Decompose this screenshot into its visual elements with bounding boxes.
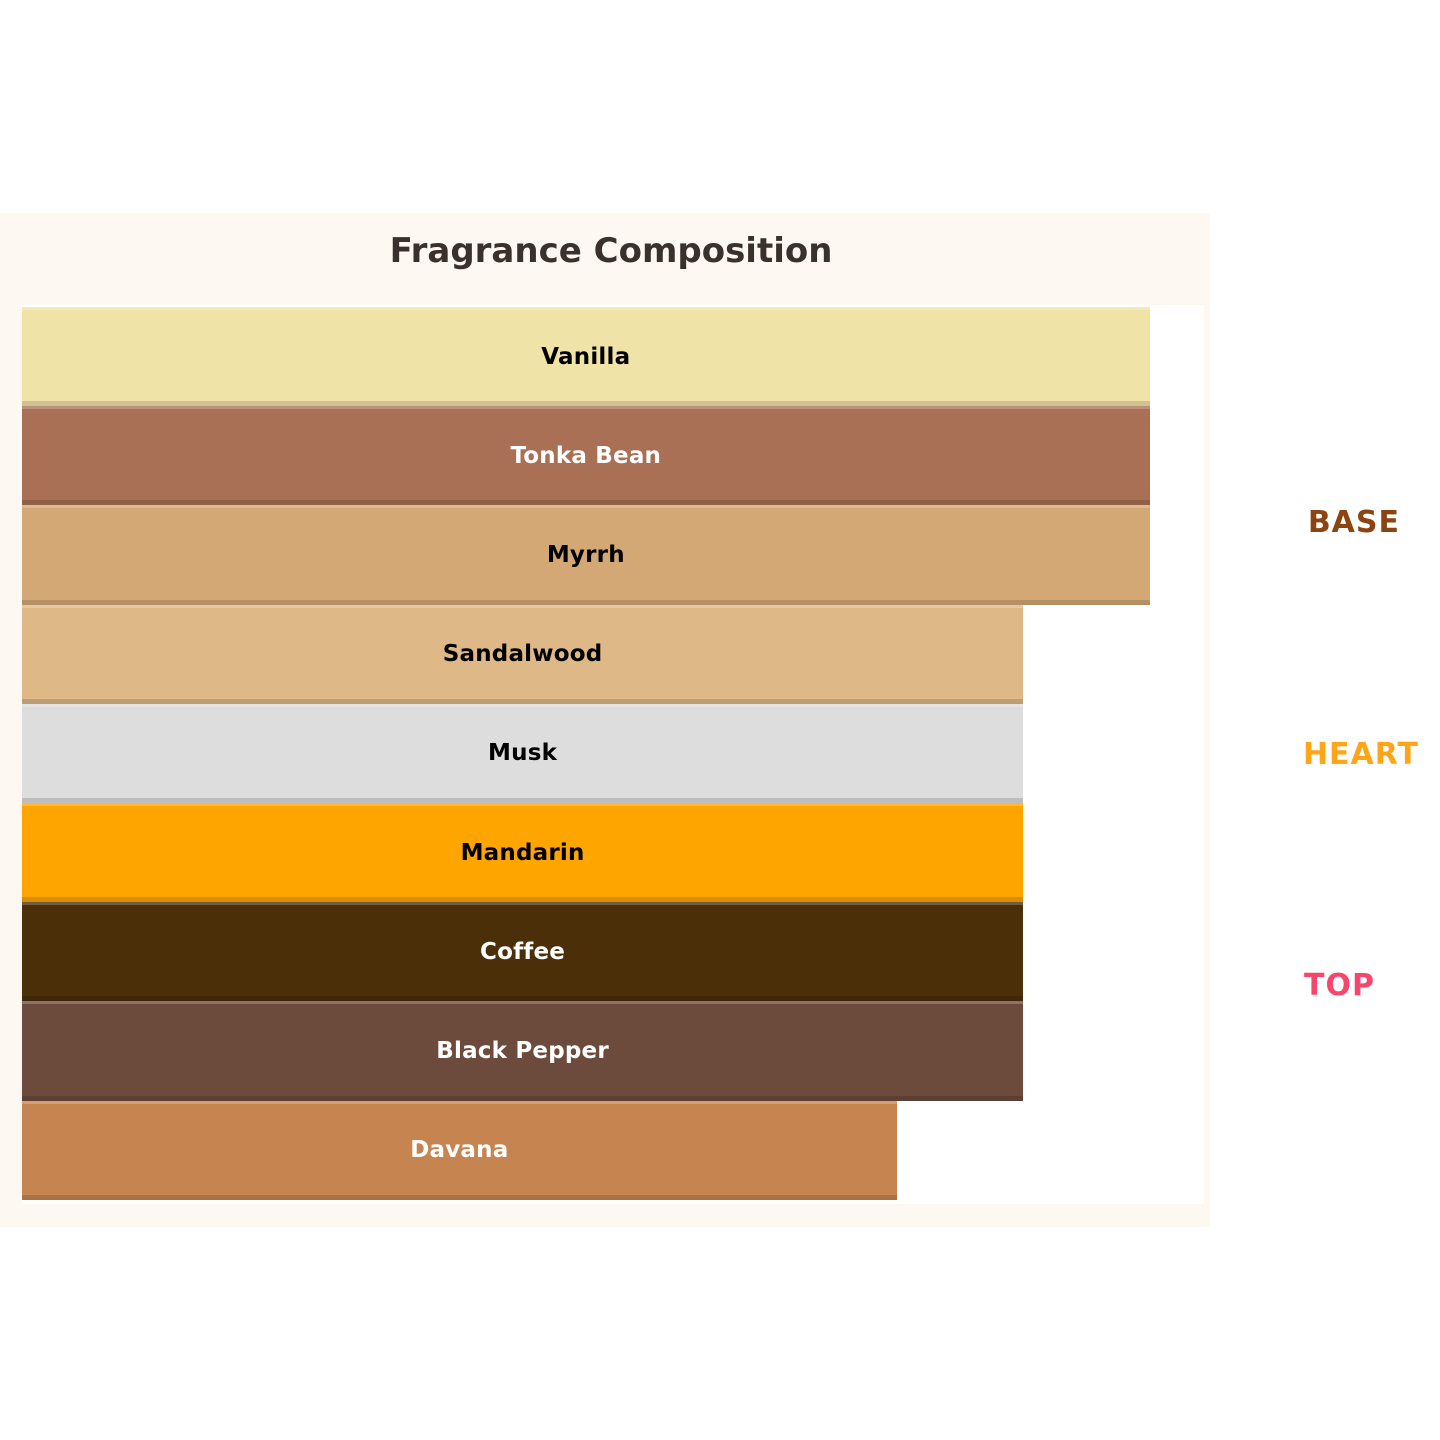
funnel-band-black-pepper[interactable]: Black Pepper [22,1001,1023,1100]
funnel-band-myrrh[interactable]: Myrrh [22,505,1150,604]
funnel-band-mandarin[interactable]: Mandarin [22,803,1023,902]
page-title: Fragrance Composition [0,231,1222,271]
funnel-band-sandalwood[interactable]: Sandalwood [22,605,1023,704]
stage-label-heart: HEART [1130,737,1419,772]
funnel-band-musk[interactable]: Musk [22,704,1023,803]
funnel-band-coffee[interactable]: Coffee [22,902,1023,1001]
bar-fill [22,505,1150,604]
funnel-band-tonka-bean[interactable]: Tonka Bean [22,406,1150,505]
stage-label-base: BASE [1130,505,1400,540]
bar-fill [22,704,1023,803]
stage-label-top: TOP [1130,968,1375,1003]
funnel-band-davana[interactable]: Davana [22,1101,897,1200]
bar-fill [22,803,1023,902]
bar-fill [22,605,1023,704]
bar-fill [22,307,1150,406]
figure-container: Fragrance Composition Vanilla Tonka Bean… [0,213,1210,1227]
bar-fill [22,1001,1023,1100]
bar-fill [22,1101,897,1200]
plot-area: Vanilla Tonka Bean Myrrh Sandalwood Musk… [22,305,1204,1204]
bar-fill [22,406,1150,505]
bar-fill [22,902,1023,1001]
funnel-band-vanilla[interactable]: Vanilla [22,307,1150,406]
